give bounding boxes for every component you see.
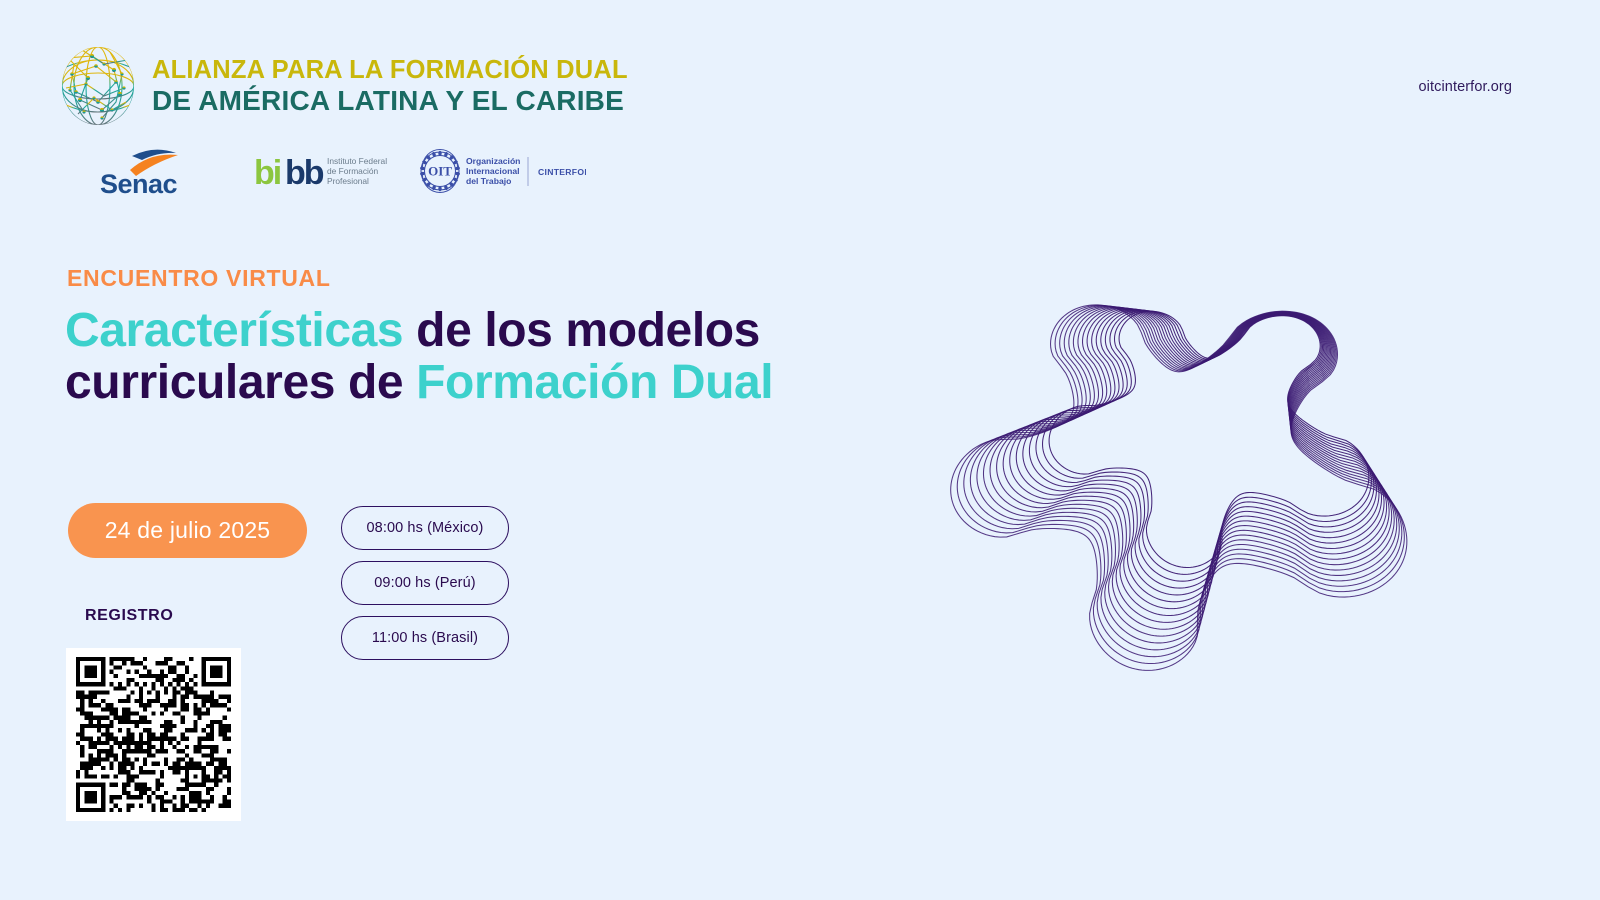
brand-line-2: DE AMÉRICA LATINA Y EL CARIBE bbox=[152, 86, 628, 116]
partner-logo-senac: Senac bbox=[92, 143, 254, 199]
timezone-chip: 11:00 hs (Brasil) bbox=[341, 616, 509, 660]
svg-text:Profesional: Profesional bbox=[327, 176, 369, 186]
svg-text:bi: bi bbox=[254, 154, 281, 192]
brand-text: ALIANZA PARA LA FORMACIÓN DUAL DE AMÉRIC… bbox=[152, 57, 628, 116]
timezone-chip: 09:00 hs (Perú) bbox=[341, 561, 509, 605]
svg-text:Internacional: Internacional bbox=[466, 166, 519, 176]
poster-canvas: ALIANZA PARA LA FORMACIÓN DUAL DE AMÉRIC… bbox=[0, 0, 1600, 900]
svg-text:Senac: Senac bbox=[100, 169, 178, 199]
partner-logo-oit: OIT Organización Internacional del Traba… bbox=[418, 143, 586, 199]
svg-text:Instituto Federal: Instituto Federal bbox=[327, 156, 387, 166]
title-segment-2: de los modelos bbox=[403, 304, 760, 357]
eyebrow-label: ENCUENTRO VIRTUAL bbox=[67, 265, 331, 292]
brand-line-1: ALIANZA PARA LA FORMACIÓN DUAL bbox=[152, 57, 628, 84]
site-url[interactable]: oitcinterfor.org bbox=[1419, 79, 1512, 95]
svg-text:del Trabajo: del Trabajo bbox=[466, 176, 511, 186]
svg-text:CINTERFOR: CINTERFOR bbox=[538, 167, 586, 177]
partner-logo-strip: Senac bi bb Instituto Federal de Formaci… bbox=[92, 143, 586, 199]
event-date-badge: 24 de julio 2025 bbox=[68, 503, 307, 558]
qr-code-icon[interactable] bbox=[66, 648, 241, 821]
timezone-chip: 08:00 hs (México) bbox=[341, 506, 509, 550]
registration-label: REGISTRO bbox=[85, 607, 173, 625]
svg-text:OIT: OIT bbox=[428, 164, 452, 179]
svg-text:de Formación: de Formación bbox=[327, 166, 379, 176]
title-segment-1: Características bbox=[65, 304, 403, 357]
title-segment-4: Formación Dual bbox=[416, 356, 773, 409]
timezone-chip-list: 08:00 hs (México) 09:00 hs (Perú) 11:00 … bbox=[341, 506, 509, 660]
concentric-blob-art bbox=[955, 185, 1425, 635]
brand-lockup: ALIANZA PARA LA FORMACIÓN DUAL DE AMÉRIC… bbox=[58, 44, 628, 128]
page-title: Características de los modeloscurricular… bbox=[65, 305, 865, 410]
svg-text:Organización: Organización bbox=[466, 156, 520, 166]
title-segment-3: curriculares de bbox=[65, 356, 416, 409]
network-globe-icon bbox=[58, 44, 138, 128]
partner-logo-bibb: bi bb Instituto Federal de Formación Pro… bbox=[254, 143, 418, 199]
svg-text:bb: bb bbox=[285, 154, 324, 192]
